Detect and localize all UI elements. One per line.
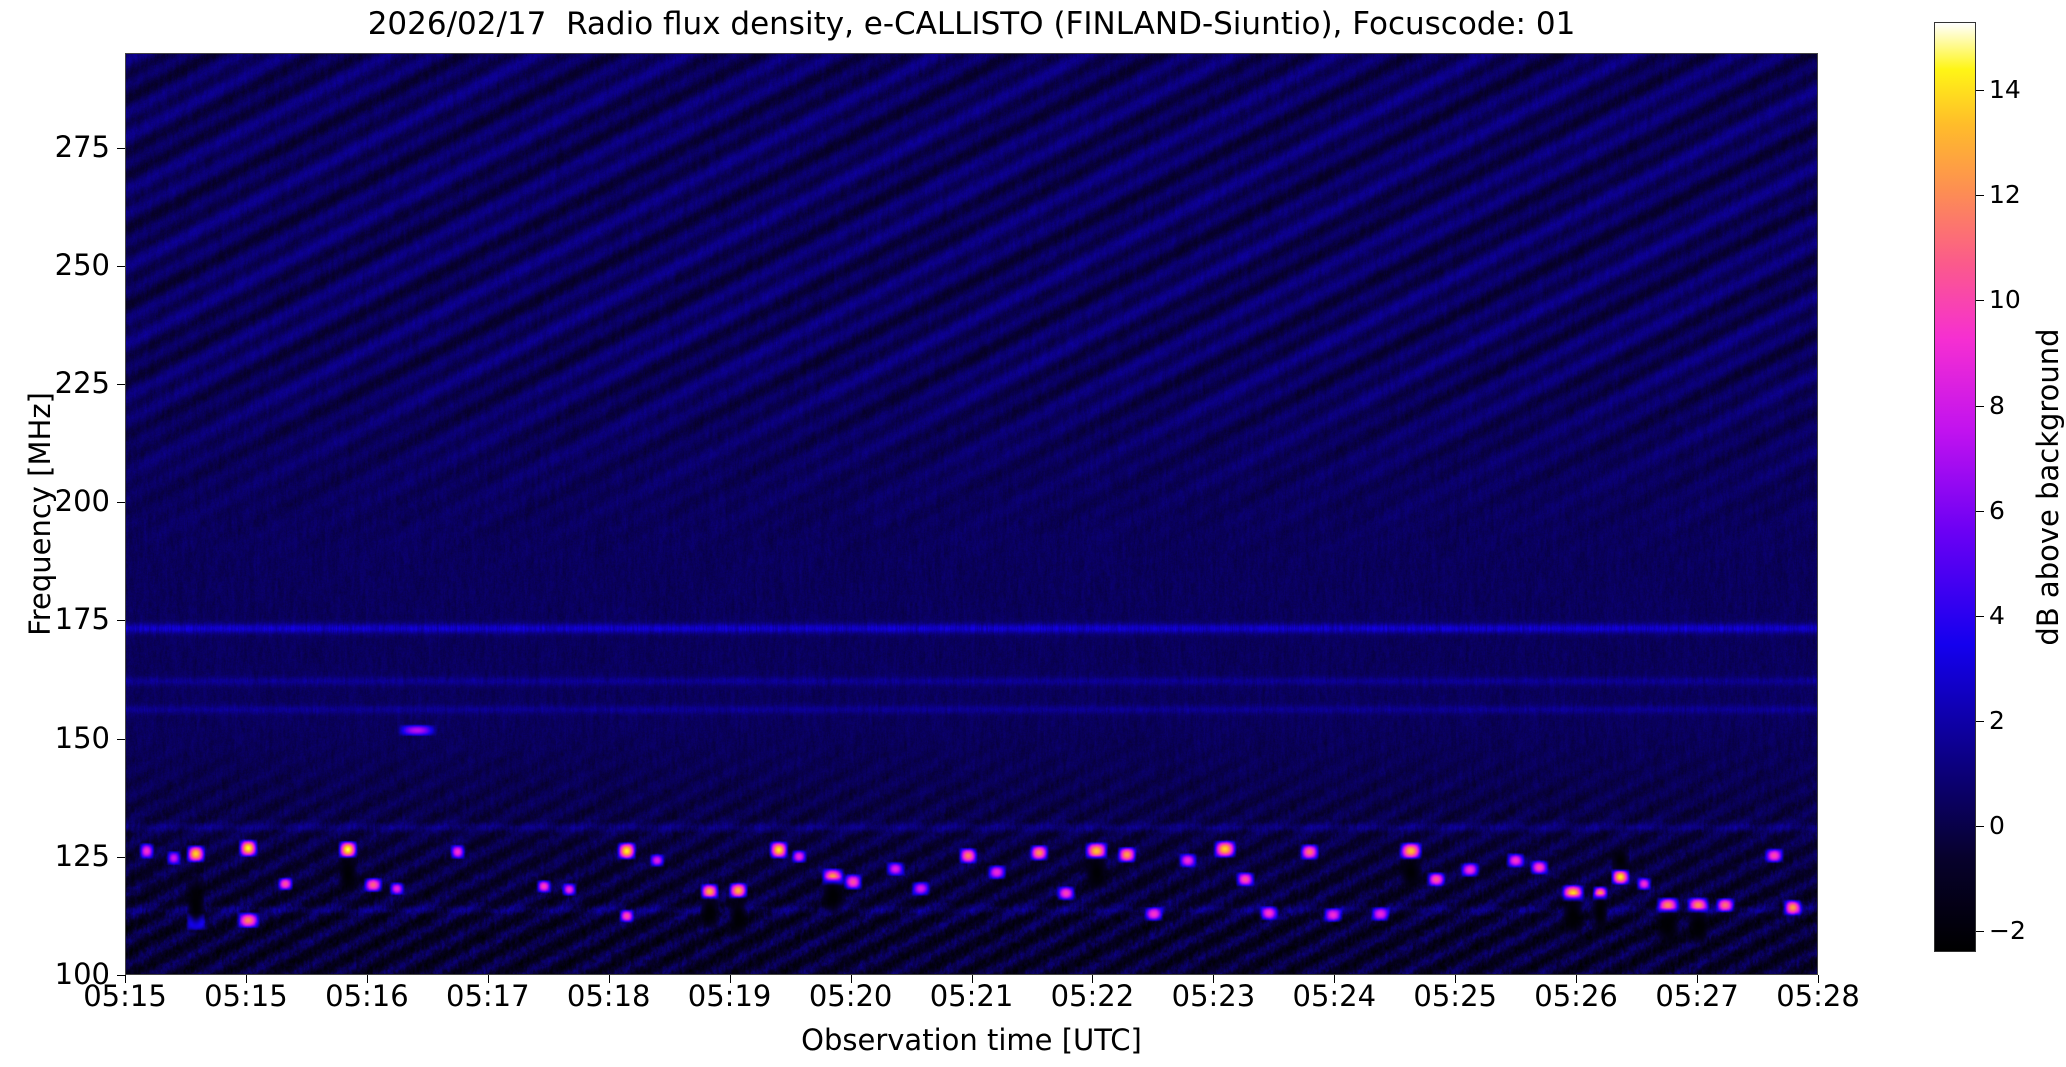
y-tick-label: 200 bbox=[40, 487, 110, 516]
colorbar-tick-mark bbox=[1976, 90, 1984, 91]
colorbar-tick-label: 14 bbox=[1989, 77, 2021, 102]
y-tick-mark bbox=[117, 502, 125, 503]
colorbar-tick-label: 0 bbox=[1989, 813, 2005, 838]
colorbar-tick-mark bbox=[1976, 826, 1984, 827]
x-tick-mark bbox=[609, 975, 610, 983]
y-tick-mark bbox=[117, 739, 125, 740]
x-tick-label: 05:16 bbox=[302, 982, 432, 1011]
colorbar-tick-label: 2 bbox=[1989, 708, 2005, 733]
x-tick-label: 05:24 bbox=[1269, 982, 1399, 1011]
x-tick-mark bbox=[1697, 975, 1698, 983]
x-tick-label: 05:28 bbox=[1753, 982, 1883, 1011]
y-tick-mark bbox=[117, 857, 125, 858]
spectrogram-image[interactable] bbox=[126, 54, 1817, 974]
x-tick-label: 05:23 bbox=[1148, 982, 1278, 1011]
x-tick-mark bbox=[1455, 975, 1456, 983]
x-tick-label: 05:20 bbox=[786, 982, 916, 1011]
colorbar-tick-label: 10 bbox=[1989, 287, 2021, 312]
x-tick-mark bbox=[851, 975, 852, 983]
x-tick-label: 05:17 bbox=[423, 982, 553, 1011]
page-title: 2026/02/17 Radio flux density, e-CALLIST… bbox=[125, 4, 1818, 44]
radio-spectrogram-figure: 2026/02/17 Radio flux density, e-CALLIST… bbox=[0, 0, 2066, 1067]
y-tick-mark bbox=[117, 620, 125, 621]
y-tick-label: 275 bbox=[40, 133, 110, 162]
x-tick-label: 05:26 bbox=[1511, 982, 1641, 1011]
colorbar-tick-mark bbox=[1976, 931, 1984, 932]
x-tick-label: 05:15 bbox=[181, 982, 311, 1011]
y-tick-label: 150 bbox=[40, 724, 110, 753]
x-tick-mark bbox=[1334, 975, 1335, 983]
colorbar-tick-label: 8 bbox=[1989, 393, 2005, 418]
x-tick-mark bbox=[125, 975, 126, 983]
y-tick-mark bbox=[117, 975, 125, 976]
y-tick-label: 175 bbox=[40, 605, 110, 634]
x-tick-label: 05:27 bbox=[1632, 982, 1762, 1011]
x-tick-mark bbox=[246, 975, 247, 983]
y-tick-label: 250 bbox=[40, 251, 110, 280]
x-tick-mark bbox=[730, 975, 731, 983]
x-tick-mark bbox=[1213, 975, 1214, 983]
x-tick-mark bbox=[1576, 975, 1577, 983]
x-tick-label: 05:22 bbox=[1027, 982, 1157, 1011]
colorbar-tick-mark bbox=[1976, 195, 1984, 196]
x-tick-label: 05:21 bbox=[907, 982, 1037, 1011]
spectrogram-axes[interactable] bbox=[125, 53, 1818, 975]
y-tick-mark bbox=[117, 148, 125, 149]
colorbar-tick-label: 12 bbox=[1989, 182, 2021, 207]
colorbar-tick-mark bbox=[1976, 511, 1984, 512]
colorbar-tick-mark bbox=[1976, 616, 1984, 617]
x-tick-label: 05:18 bbox=[544, 982, 674, 1011]
y-tick-label: 225 bbox=[40, 369, 110, 398]
colorbar[interactable] bbox=[1934, 22, 1976, 952]
colorbar-label: dB above background bbox=[2028, 22, 2066, 952]
colorbar-tick-label: 6 bbox=[1989, 498, 2005, 523]
y-tick-mark bbox=[117, 266, 125, 267]
colorbar-tick-mark bbox=[1976, 300, 1984, 301]
colorbar-tick-label: −2 bbox=[1989, 918, 2026, 943]
x-tick-mark bbox=[972, 975, 973, 983]
colorbar-gradient bbox=[1935, 23, 1975, 951]
colorbar-tick-label: 4 bbox=[1989, 603, 2005, 628]
x-tick-mark bbox=[1818, 975, 1819, 983]
colorbar-tick-mark bbox=[1976, 406, 1984, 407]
colorbar-tick-mark bbox=[1976, 721, 1984, 722]
y-tick-label: 125 bbox=[40, 842, 110, 871]
x-tick-label: 05:25 bbox=[1390, 982, 1520, 1011]
x-tick-label: 05:15 bbox=[60, 982, 190, 1011]
x-tick-label: 05:19 bbox=[665, 982, 795, 1011]
x-axis-label: Observation time [UTC] bbox=[125, 1022, 1818, 1058]
x-tick-mark bbox=[488, 975, 489, 983]
x-tick-mark bbox=[1092, 975, 1093, 983]
x-tick-mark bbox=[367, 975, 368, 983]
y-tick-mark bbox=[117, 384, 125, 385]
